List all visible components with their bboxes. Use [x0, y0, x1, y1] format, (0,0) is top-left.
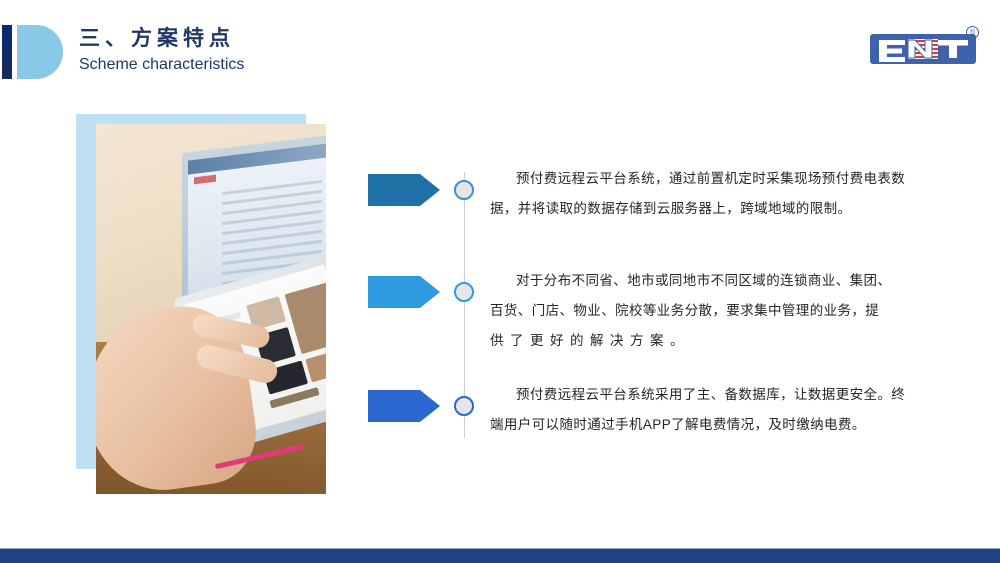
page-subtitle: Scheme characteristics — [79, 54, 244, 76]
text-line: 预付费远程云平台系统采用了主、备数据库，让数据更安全。终 — [490, 380, 910, 410]
text-line: 供了更好的解决方案。 — [490, 326, 910, 356]
timeline-list: 预付费远程云平台系统，通过前置机定时采集现场预付费电表数 据，并将读取的数据存储… — [360, 150, 920, 450]
arrow-icon — [368, 172, 440, 208]
arrow-icon — [368, 388, 440, 424]
page-title-block: 三、方案特点 Scheme characteristics — [79, 26, 244, 76]
text-line: 预付费远程云平台系统，通过前置机定时采集现场预付费电表数 — [490, 164, 910, 194]
list-item-text: 预付费远程云平台系统采用了主、备数据库，让数据更安全。终 端用户可以随时通过手机… — [490, 380, 910, 440]
header-navy-accent-bar — [2, 25, 12, 79]
list-item-text: 预付费远程云平台系统，通过前置机定时采集现场预付费电表数 据，并将读取的数据存储… — [490, 164, 910, 224]
page-title: 三、方案特点 — [79, 26, 244, 52]
text-line: 据，并将读取的数据存储到云服务器上，跨域地域的限制。 — [490, 194, 910, 224]
footer-bar — [0, 549, 1000, 563]
ent-logo-graphic — [870, 28, 978, 70]
timeline-node — [454, 396, 474, 416]
registered-trademark-icon: ® — [966, 26, 979, 39]
page-header: 三、方案特点 Scheme characteristics ® — [0, 0, 1000, 90]
timeline-node — [454, 180, 474, 200]
arrow-icon — [368, 274, 440, 310]
list-item-text: 对于分布不同省、地市或同地市不同区域的连锁商业、集团、 百货、门店、物业、院校等… — [490, 266, 910, 356]
text-line: 百货、门店、物业、院校等业务分散，要求集中管理的业务，提 — [490, 296, 910, 326]
photo-image — [96, 124, 326, 494]
text-line: 端用户可以随时通过手机APP了解电费情况，及时缴纳电费。 — [490, 410, 910, 440]
text-line: 对于分布不同省、地市或同地市不同区域的连锁商业、集团、 — [490, 266, 910, 296]
photo-block — [76, 114, 326, 479]
ent-logo: ® — [870, 28, 978, 70]
header-d-shape-decoration — [17, 25, 63, 79]
timeline-node — [454, 282, 474, 302]
